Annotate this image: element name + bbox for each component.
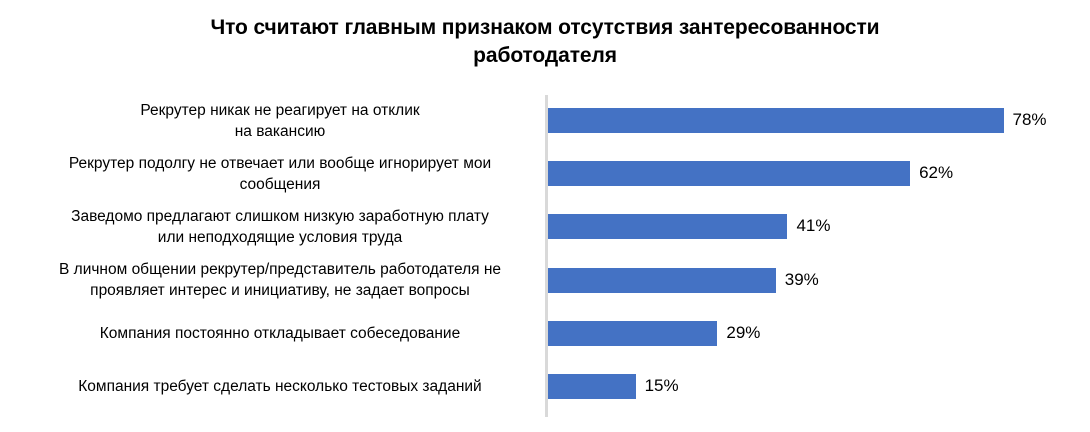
bar[interactable] [548, 214, 787, 239]
bar-fill [548, 161, 910, 186]
bar-value-label: 41% [796, 213, 830, 238]
bar[interactable] [548, 374, 636, 399]
bar-row: Компания постоянно откладывает собеседов… [0, 308, 1090, 361]
category-label: Рекрутер никак не реагирует на отклик на… [20, 100, 540, 142]
bar-value-label: 15% [645, 373, 679, 398]
category-label: В личном общении рекрутер/представитель … [20, 259, 540, 301]
plot-area: Рекрутер никак не реагирует на отклик на… [0, 0, 1090, 432]
category-label: Компания требует сделать несколько тесто… [20, 376, 540, 397]
bar-row: Компания требует сделать несколько тесто… [0, 361, 1090, 414]
category-label: Компания постоянно откладывает собеседов… [20, 323, 540, 344]
bar-fill [548, 374, 636, 399]
bar[interactable] [548, 161, 910, 186]
category-label: Рекрутер подолгу не отвечает или вообще … [20, 153, 540, 195]
bar[interactable] [548, 321, 717, 346]
bar[interactable] [548, 108, 1004, 133]
bar-value-label: 78% [1013, 107, 1047, 132]
bar-value-label: 62% [919, 160, 953, 185]
bar-fill [548, 268, 776, 293]
bar-row: Рекрутер подолгу не отвечает или вообще … [0, 148, 1090, 201]
bar-value-label: 29% [726, 320, 760, 345]
bar-row: В личном общении рекрутер/представитель … [0, 255, 1090, 308]
category-label: Заведомо предлагают слишком низкую зараб… [20, 206, 540, 248]
bar-row: Рекрутер никак не реагирует на отклик на… [0, 95, 1090, 148]
bar-fill [548, 214, 787, 239]
bar-value-label: 39% [785, 267, 819, 292]
bar[interactable] [548, 268, 776, 293]
bar-fill [548, 108, 1004, 133]
bar-chart: Что считают главным признаком отсутствия… [0, 0, 1090, 432]
bar-row: Заведомо предлагают слишком низкую зараб… [0, 201, 1090, 254]
bar-fill [548, 321, 717, 346]
